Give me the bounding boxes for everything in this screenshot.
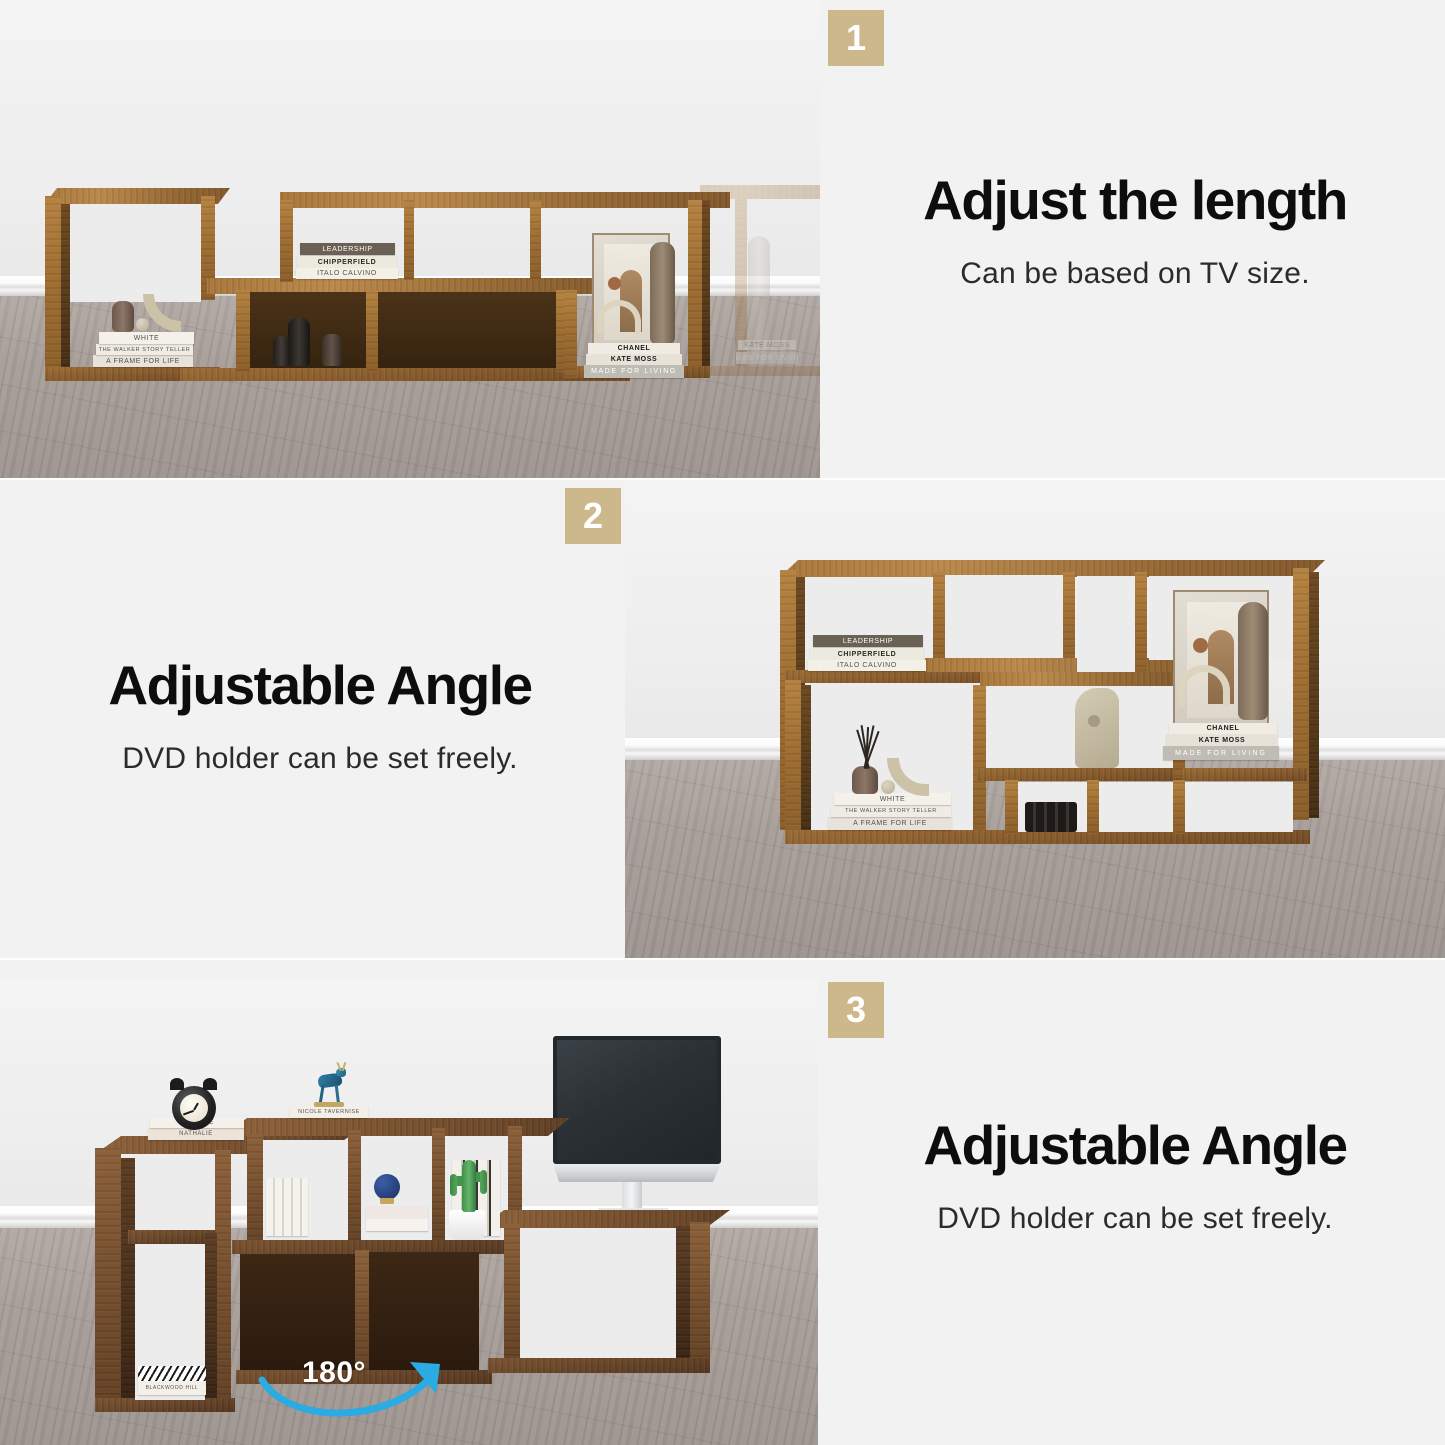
- section-2-image: LEADERSHIP CHIPPERFIELD ITALO CALVINO A …: [625, 480, 1445, 958]
- section-1-subline: Can be based on TV size.: [850, 257, 1420, 291]
- section-1-headline: Adjust the length: [850, 170, 1420, 231]
- clock-bell-left: [170, 1078, 184, 1090]
- section-2-text: Adjustable Angle DVD holder can be set f…: [35, 655, 605, 776]
- black-bottle-vase-tall: [288, 318, 310, 366]
- book-leadership: LEADERSHIP: [300, 243, 395, 255]
- ball-ornament: [881, 780, 895, 794]
- book-made-for-living: MADE FOR LIVING: [1163, 746, 1279, 760]
- book-blackwood-hill: [138, 1366, 206, 1381]
- section-1-image: KATE MOSS MADE FOR LIVING: [0, 0, 820, 478]
- section-1: KATE MOSS MADE FOR LIVING: [0, 0, 1445, 478]
- cactus-pot: [449, 1210, 485, 1240]
- book-chanel: CHANEL: [1169, 723, 1277, 734]
- blue-deer-figurine: [300, 1066, 354, 1108]
- step-badge-3: 3: [828, 982, 884, 1038]
- section-3: NATHALIE NATHALIE NICOLE TAVERNISE: [0, 960, 1445, 1445]
- book-a-frame-for-life: A FRAME FOR LIFE: [828, 817, 952, 830]
- tall-ceramic-vase: [650, 242, 675, 344]
- section-2-headline: Adjustable Angle: [35, 655, 605, 716]
- section-3-subline: DVD holder can be set freely.: [850, 1202, 1420, 1236]
- ball-ornament: [136, 318, 149, 331]
- section-1-text: Adjust the length Can be based on TV siz…: [850, 170, 1420, 291]
- section-2: Adjustable Angle DVD holder can be set f…: [0, 480, 1445, 958]
- section-2-subline: DVD holder can be set freely.: [35, 742, 605, 776]
- book-kate-moss: KATE MOSS: [1166, 734, 1278, 746]
- clock-bell-right: [203, 1078, 217, 1090]
- circle-shape: [1193, 638, 1208, 653]
- book-stack-white: [366, 1219, 428, 1231]
- step-badge-2: 2: [565, 488, 621, 544]
- stone-figure: [1075, 688, 1119, 768]
- book-leadership: LEADERSHIP: [813, 635, 923, 647]
- imac-monitor-screen: [553, 1036, 721, 1164]
- book-white: WHITE: [99, 332, 194, 344]
- infographic-canvas: KATE MOSS MADE FOR LIVING: [0, 0, 1445, 1445]
- tall-ceramic-vase: [1238, 602, 1268, 720]
- brown-vase: [112, 301, 134, 332]
- book-kate-moss: KATE MOSS: [586, 354, 682, 365]
- book-chipperfield: CHIPPERFIELD: [810, 648, 924, 660]
- shelf-books-white: [266, 1178, 308, 1236]
- black-cylinders: [1025, 802, 1077, 832]
- rotation-annotation: 180°: [248, 1346, 468, 1426]
- brown-bottle-vase: [322, 334, 342, 366]
- book-a-frame-for-life: A FRAME FOR LIFE: [93, 355, 193, 367]
- book-walker-story-teller: THE WALKER STORY TELLER: [831, 805, 951, 817]
- book-white: WHITE: [834, 793, 951, 805]
- imac-monitor-chin: [553, 1164, 721, 1182]
- globe-base: [380, 1198, 394, 1204]
- step-badge-1: 1: [828, 10, 884, 66]
- book-blackwood-hill-2: BLACKWOOD HILL: [138, 1381, 206, 1395]
- book-chanel: CHANEL: [588, 343, 680, 354]
- shelf-top-right: [280, 192, 730, 208]
- book-italo-calvino: ITALO CALVINO: [808, 660, 926, 671]
- book-made-for-living: MADE FOR LIVING: [584, 365, 684, 378]
- globe: [374, 1174, 400, 1200]
- book-walker-story-teller: THE WALKER STORY TELLER: [96, 344, 193, 355]
- black-bottle-vase-small: [273, 336, 290, 366]
- section-3-text: Adjustable Angle DVD holder can be set f…: [850, 1115, 1420, 1236]
- reed-sticks: [851, 725, 881, 769]
- stone-figure-hole: [1088, 715, 1100, 727]
- circle-shape: [608, 277, 621, 290]
- reed-diffuser: [852, 766, 878, 794]
- section-3-headline: Adjustable Angle: [850, 1115, 1420, 1176]
- cactus-plant: [450, 1160, 486, 1214]
- book-italo-calvino: ITALO CALVINO: [296, 268, 398, 279]
- book-chipperfield: CHIPPERFIELD: [297, 256, 397, 268]
- rotation-degrees-label: 180°: [302, 1356, 366, 1390]
- book-stack-pink: [366, 1206, 428, 1219]
- section-3-image: NATHALIE NATHALIE NICOLE TAVERNISE: [0, 978, 818, 1445]
